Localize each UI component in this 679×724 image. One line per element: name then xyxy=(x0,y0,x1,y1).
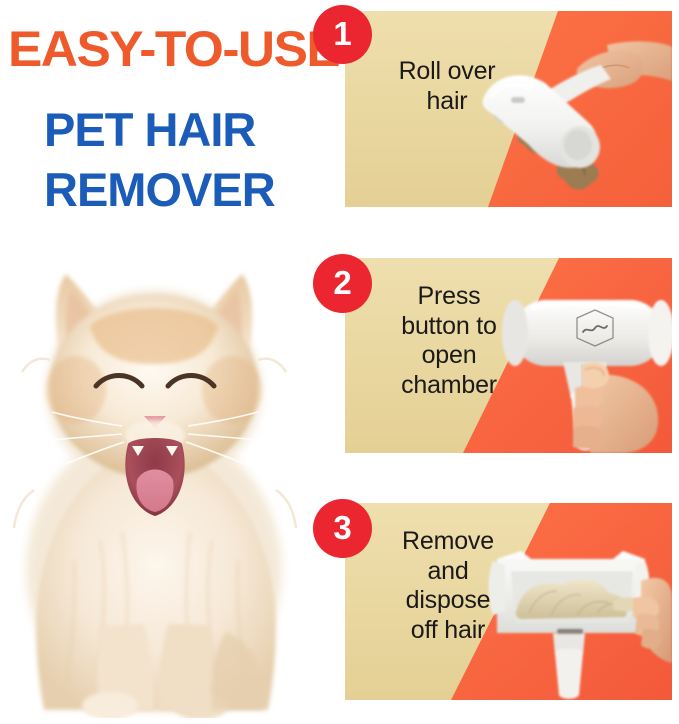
step-panel-3: Remove and dispose off hair 3 xyxy=(345,503,672,700)
step-3-caption: Remove and dispose off hair xyxy=(353,527,543,645)
step-2-badge: 2 xyxy=(313,254,372,313)
headline-block: EASY-TO-USE PET HAIR REMOVER xyxy=(0,0,312,228)
headline-line-2: PET HAIR xyxy=(44,106,294,153)
headline-line-3: REMOVER xyxy=(44,166,294,213)
step-2-caption: Press button to open chamber xyxy=(355,282,543,400)
infographic-canvas: EASY-TO-USE PET HAIR REMOVER xyxy=(0,0,679,724)
step-3-badge: 3 xyxy=(313,499,372,558)
step-1-badge: 1 xyxy=(313,5,372,64)
step-panel-1: Roll over hair 1 xyxy=(345,11,672,207)
step-panel-2: Press button to open chamber 2 xyxy=(345,258,672,453)
kitten-photo xyxy=(4,240,306,718)
step-1-caption: Roll over hair xyxy=(359,57,535,116)
headline-line-1: EASY-TO-USE xyxy=(8,24,313,74)
